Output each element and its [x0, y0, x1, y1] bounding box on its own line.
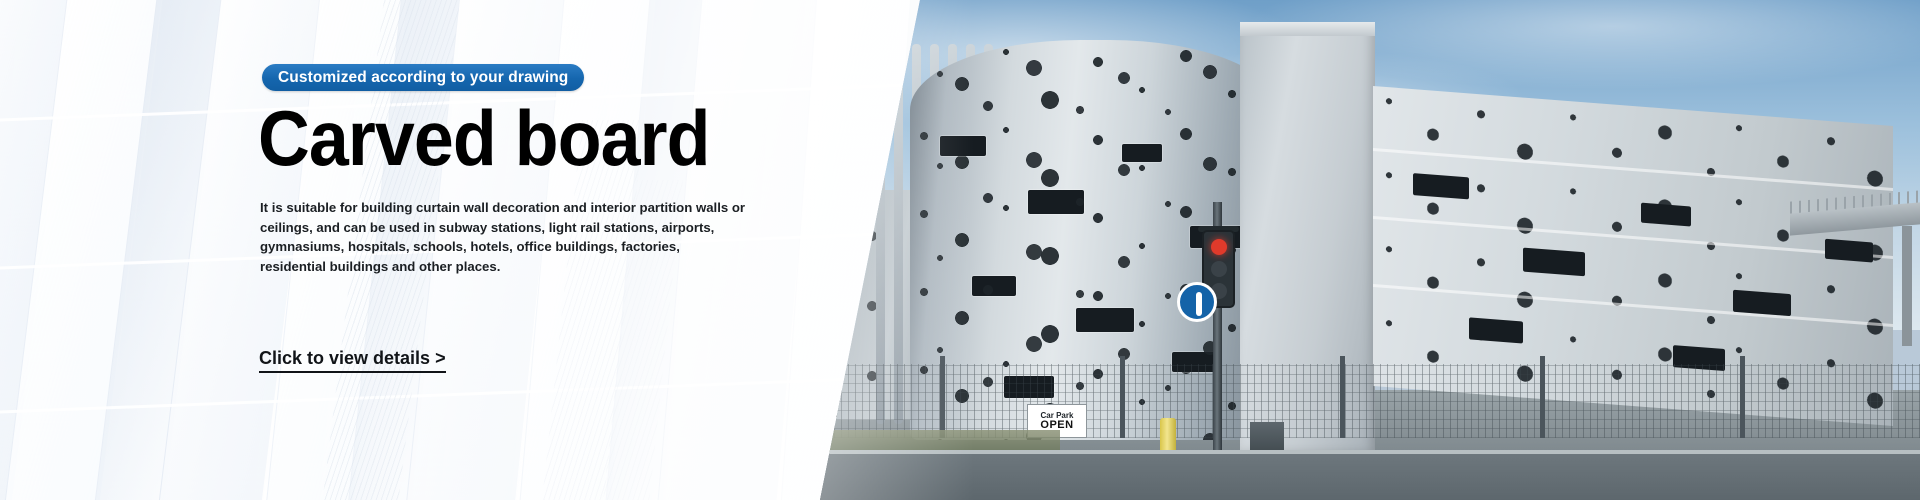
car-park-sign-line2: OPEN — [1040, 420, 1073, 431]
description-line: residential buildings and other places. — [260, 257, 730, 277]
traffic-light-red-lamp — [1211, 239, 1227, 255]
page-title: Carved board — [258, 99, 710, 177]
description-line: It is suitable for building curtain wall… — [260, 198, 730, 218]
description-line: gymnasiums, hospitals, schools, hotels, … — [260, 237, 730, 257]
view-details-link[interactable]: Click to view details > — [259, 348, 446, 373]
traffic-light-amber-lamp — [1211, 261, 1227, 277]
description-text: It is suitable for building curtain wall… — [260, 198, 730, 276]
building-photo: Car Park OPEN — [820, 0, 1920, 500]
tagline-badge: Customized according to your drawing — [262, 64, 584, 91]
tagline-badge-label: Customized according to your drawing — [278, 69, 568, 87]
road — [820, 454, 1920, 500]
pedestrian-sign-icon — [1177, 282, 1217, 322]
description-line: ceilings, and can be used in subway stat… — [260, 218, 730, 238]
promo-banner: Car Park OPEN Customized according to yo… — [0, 0, 1920, 500]
perimeter-fence — [820, 364, 1920, 438]
utility-cabinet — [1250, 422, 1284, 452]
banner-content: Customized according to your drawing Car… — [0, 0, 900, 500]
overpass-support — [1902, 226, 1912, 346]
